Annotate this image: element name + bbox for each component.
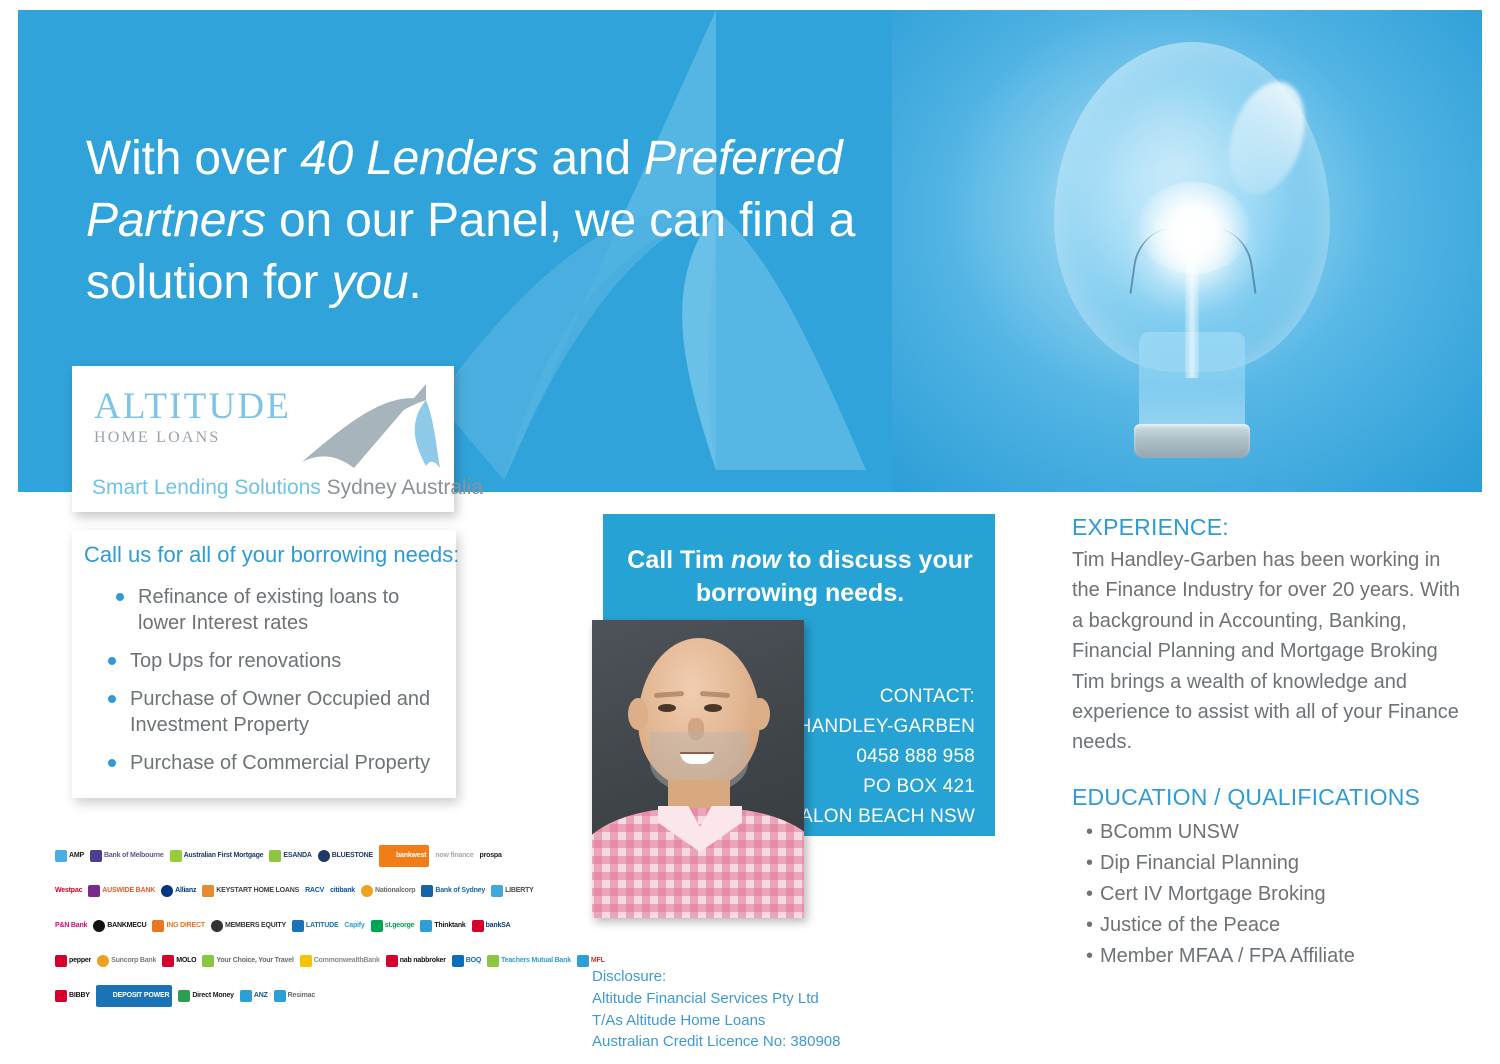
- profile-column: EXPERIENCE: Tim Handley-Garben has been …: [1072, 514, 1472, 972]
- lender-logo: MEMBERS EQUITY: [211, 915, 286, 937]
- lender-name: now finance: [435, 852, 473, 859]
- lender-name: KEYSTART HOME LOANS: [216, 887, 299, 894]
- lender-logo: BIBBY: [55, 985, 90, 1007]
- lender-logo: now finance: [435, 845, 473, 867]
- lender-name: RACV: [305, 887, 324, 894]
- diamond-icon: [269, 850, 281, 862]
- logo-primary-text: ALTITUDE: [94, 388, 291, 425]
- list-item: Refinance of existing loans to lower Int…: [106, 584, 446, 636]
- lender-name: prospa: [480, 852, 502, 859]
- lender-logo: st.george: [371, 915, 415, 937]
- disclosure-line: Disclosure:: [592, 966, 952, 988]
- flagmark-icon: [55, 990, 67, 1002]
- triangle-icon: [202, 885, 214, 897]
- tt-icon: [420, 920, 432, 932]
- lender-logo: Capify: [344, 915, 364, 937]
- lender-logo: Resimac: [274, 985, 315, 1007]
- swirl-icon: [170, 850, 182, 862]
- borrowing-needs-list: Refinance of existing loans to lower Int…: [106, 584, 446, 788]
- lender-name: Bank of Melbourne: [104, 852, 164, 859]
- lender-name: citibank: [330, 887, 355, 894]
- lender-name: CommonwealthBank: [314, 957, 380, 964]
- lender-logo: pepper: [55, 950, 91, 972]
- lender-logo: BOQ: [452, 950, 481, 972]
- lender-logo: Allianz: [161, 880, 196, 902]
- disclosure-line: T/As Altitude Home Loans: [592, 1010, 952, 1032]
- leaf-icon: [240, 990, 252, 1002]
- disclosure-block: Disclosure: Altitude Financial Services …: [592, 966, 952, 1053]
- star-icon: [55, 850, 67, 862]
- headline-part-1: 40 Lenders: [300, 132, 538, 185]
- dragon-icon: [371, 920, 383, 932]
- lender-logo: Teachers Mutual Bank: [487, 950, 571, 972]
- avatar: [592, 620, 804, 918]
- lender-logo: Bank of Sydney: [421, 880, 485, 902]
- lender-logo: LATITUDE: [292, 915, 339, 937]
- lender-name: Teachers Mutual Bank: [501, 957, 571, 964]
- logo-secondary-text: HOME LOANS: [94, 429, 291, 447]
- lender-name: MOLO: [176, 957, 196, 964]
- lender-name: Westpac: [55, 887, 82, 894]
- education-list: BComm UNSW Dip Financial Planning Cert I…: [1072, 817, 1472, 972]
- list-item: Purchase of Owner Occupied and Investmen…: [106, 686, 446, 738]
- logo-tagline-blue: Smart Lending Solutions: [92, 476, 321, 499]
- square-icon: [88, 885, 100, 897]
- lender-name: ANZ: [254, 992, 268, 999]
- flyer-page: With over 40 Lenders and Preferred Partn…: [0, 0, 1500, 1064]
- company-logo-card: ALTITUDE HOME LOANS Smart Lending Soluti…: [72, 366, 454, 512]
- lender-name: nab nabbroker: [400, 957, 446, 964]
- lender-name: BLUESTONE: [332, 852, 373, 859]
- lender-name: AMP: [69, 852, 84, 859]
- pill-icon: [382, 850, 394, 862]
- lender-logo-row: pepperSuncorp BankMOLOYour Choice, Your …: [55, 943, 507, 978]
- contact-heading-part-1: now: [731, 546, 781, 574]
- burst-icon: [491, 885, 503, 897]
- swirl-icon: [487, 955, 499, 967]
- headline-part-6: .: [408, 256, 421, 309]
- lender-name: MEMBERS EQUITY: [225, 922, 286, 929]
- lender-name: AUSWIDE BANK: [102, 887, 155, 894]
- list-item: BComm UNSW: [1100, 817, 1472, 848]
- lender-name: Nationalcorp: [375, 887, 415, 894]
- lender-name: Australian First Mortgage: [184, 852, 264, 859]
- lender-logo: Westpac: [55, 880, 82, 902]
- logo-wordmark: ALTITUDE HOME LOANS: [94, 388, 291, 447]
- lender-name: Capify: [344, 922, 364, 929]
- lightbulb-icon: [1042, 32, 1342, 462]
- lion-icon: [152, 920, 164, 932]
- lender-logo: ESANDA: [269, 845, 311, 867]
- flag-icon: [421, 885, 433, 897]
- lender-name: Suncorp Bank: [111, 957, 156, 964]
- lender-logo: Nationalcorp: [361, 880, 415, 902]
- badge-icon: [472, 920, 484, 932]
- contact-heading-part-0: Call Tim: [627, 546, 731, 574]
- box-icon: [99, 990, 111, 1002]
- lender-logo: Direct Money: [178, 985, 234, 1007]
- lender-logo: MOLO: [162, 950, 196, 972]
- borrowing-needs-title: Call us for all of your borrowing needs:: [84, 542, 459, 568]
- lender-name: BIBBY: [69, 992, 90, 999]
- list-item: Top Ups for renovations: [106, 648, 446, 674]
- arc-icon: [577, 955, 589, 967]
- logo-tagline-gray: Sydney Australia: [321, 476, 483, 499]
- experience-title: EXPERIENCE:: [1072, 514, 1472, 541]
- dot-icon: [318, 850, 330, 862]
- lender-logo: ANZ: [240, 985, 268, 1007]
- arrows-icon: [178, 990, 190, 1002]
- lender-name: ESANDA: [283, 852, 311, 859]
- lender-logo-row: WestpacAUSWIDE BANKAllianzKEYSTART HOME …: [55, 873, 507, 908]
- lender-logo: DEPOSIT POWER: [96, 985, 173, 1007]
- list-item: Cert IV Mortgage Broking: [1100, 879, 1472, 910]
- education-title: EDUCATION / QUALIFICATIONS: [1072, 784, 1472, 811]
- lender-logo: AMP: [55, 845, 84, 867]
- logo-tagline: Smart Lending Solutions Sydney Australia: [92, 476, 483, 500]
- headline: With over 40 Lenders and Preferred Partn…: [86, 128, 886, 314]
- lender-logo: prospa: [480, 845, 502, 867]
- lender-logo: ING DIRECT: [152, 915, 204, 937]
- sun-icon: [361, 885, 373, 897]
- lender-name: st.george: [385, 922, 415, 929]
- squares-icon: [292, 920, 304, 932]
- headline-part-2: and: [538, 132, 644, 185]
- lender-logo-row: AMPBank of MelbourneAustralian First Mor…: [55, 838, 507, 873]
- dot-icon: [161, 885, 173, 897]
- lender-logo: BANKMECU: [93, 915, 146, 937]
- lender-logo: Suncorp Bank: [97, 950, 156, 972]
- swoosh-logo-icon: [294, 380, 442, 472]
- lender-name: LATITUDE: [306, 922, 339, 929]
- borrowing-needs-card: Call us for all of your borrowing needs:…: [72, 530, 456, 798]
- lender-logo: citibank: [330, 880, 355, 902]
- lightbulb-image: [892, 10, 1482, 492]
- shield-icon: [90, 850, 102, 862]
- lender-logo: AUSWIDE BANK: [88, 880, 155, 902]
- lender-logo: P&N Bank: [55, 915, 87, 937]
- lender-name: MFL: [591, 957, 605, 964]
- lender-name: bankwest: [396, 852, 426, 859]
- disclosure-line: Australian Credit Licence No: 380908: [592, 1031, 952, 1053]
- lender-name: bankSA: [486, 922, 511, 929]
- lender-name: Thinktank: [434, 922, 465, 929]
- lender-logo: bankwest: [379, 845, 429, 867]
- lender-logo: bankSA: [472, 915, 511, 937]
- flag-icon: [452, 955, 464, 967]
- disclosure-line: Altitude Financial Services Pty Ltd: [592, 988, 952, 1010]
- headline-part-0: With over: [86, 132, 300, 185]
- lender-name: BOQ: [466, 957, 481, 964]
- lender-name: LIBERTY: [505, 887, 534, 894]
- lender-name: Bank of Sydney: [435, 887, 485, 894]
- lender-logo-row: P&N BankBANKMECUING DIRECTMEMBERS EQUITY…: [55, 908, 507, 943]
- lender-name: BANKMECU: [107, 922, 146, 929]
- lender-logo: Thinktank: [420, 915, 465, 937]
- lender-logo: Australian First Mortgage: [170, 845, 264, 867]
- contact-heading: Call Tim now to discuss your borrowing n…: [625, 544, 975, 610]
- lender-name: DEPOSIT POWER: [113, 992, 170, 999]
- lender-name: Your Choice, Your Travel: [216, 957, 293, 964]
- block-icon: [386, 955, 398, 967]
- lender-logo: BLUESTONE: [318, 845, 373, 867]
- list-item: Purchase of Commercial Property: [106, 750, 446, 776]
- list-item: Member MFAA / FPA Affiliate: [1100, 941, 1472, 972]
- lender-logo: RACV: [305, 880, 324, 902]
- lender-logo: Bank of Melbourne: [90, 845, 164, 867]
- lender-logo: LIBERTY: [491, 880, 534, 902]
- lender-name: Direct Money: [192, 992, 234, 999]
- headline-part-5: you: [332, 256, 409, 309]
- lender-name: Allianz: [175, 887, 196, 894]
- swoosh-icon: [55, 955, 67, 967]
- bars-icon: [274, 990, 286, 1002]
- circle-icon: [93, 920, 105, 932]
- oval-icon: [202, 955, 214, 967]
- list-item: Justice of the Peace: [1100, 910, 1472, 941]
- circle-icon: [211, 920, 223, 932]
- experience-body: Tim Handley-Garben has been working in t…: [1072, 545, 1472, 758]
- lender-name: Resimac: [288, 992, 315, 999]
- chevron-icon: [300, 955, 312, 967]
- leaf-icon: [162, 955, 174, 967]
- lender-logo: Your Choice, Your Travel: [202, 950, 293, 972]
- list-item: Dip Financial Planning: [1100, 848, 1472, 879]
- lender-logo: KEYSTART HOME LOANS: [202, 880, 299, 902]
- lender-name: P&N Bank: [55, 922, 87, 929]
- lender-name: ING DIRECT: [166, 922, 204, 929]
- lender-logo: nab nabbroker: [386, 950, 446, 972]
- lender-name: pepper: [69, 957, 91, 964]
- lender-logo-grid: AMPBank of MelbourneAustralian First Mor…: [55, 838, 507, 1013]
- lender-logo: CommonwealthBank: [300, 950, 380, 972]
- dot-icon: [97, 955, 109, 967]
- lender-logo-row: BIBBYDEPOSIT POWERDirect MoneyANZResimac: [55, 978, 507, 1013]
